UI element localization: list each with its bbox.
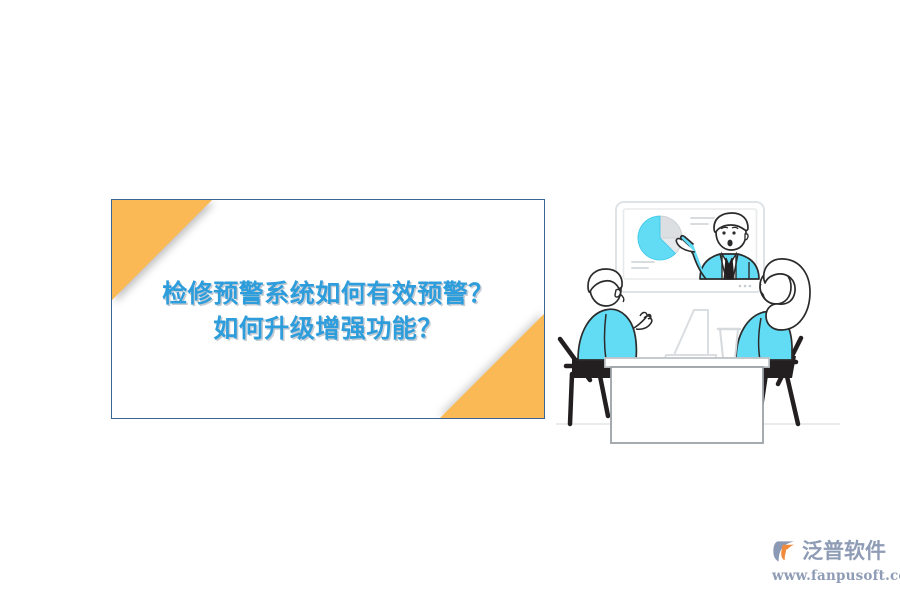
page-title-line-1: 检修预警系统如何有效预警？ xyxy=(162,276,494,312)
title-card: 检修预警系统如何有效预警？ 如何升级增强功能？ xyxy=(111,199,545,419)
video-conference-illustration xyxy=(548,188,848,450)
logo-url-text: www.fanpusoft.com xyxy=(772,568,896,584)
screen-indicator-dots xyxy=(739,285,752,288)
illustration-svg xyxy=(548,188,848,450)
fanpusoft-logo[interactable]: 泛普软件 www.fanpusoft.com xyxy=(772,536,896,592)
laptop xyxy=(664,310,716,361)
logo-row: 泛普软件 xyxy=(772,536,896,566)
logo-brand-text: 泛普软件 xyxy=(802,541,886,562)
page-title-line-2: 如何升级增强功能？ xyxy=(213,311,443,347)
wall-screen xyxy=(616,202,764,292)
pie-chart xyxy=(638,216,682,260)
page-canvas: 检修预警系统如何有效预警？ 如何升级增强功能？ xyxy=(0,0,900,600)
conference-table xyxy=(605,358,769,443)
fanpusoft-mark-icon xyxy=(772,538,799,565)
title-text-block: 检修预警系统如何有效预警？ 如何升级增强功能？ xyxy=(112,200,544,418)
